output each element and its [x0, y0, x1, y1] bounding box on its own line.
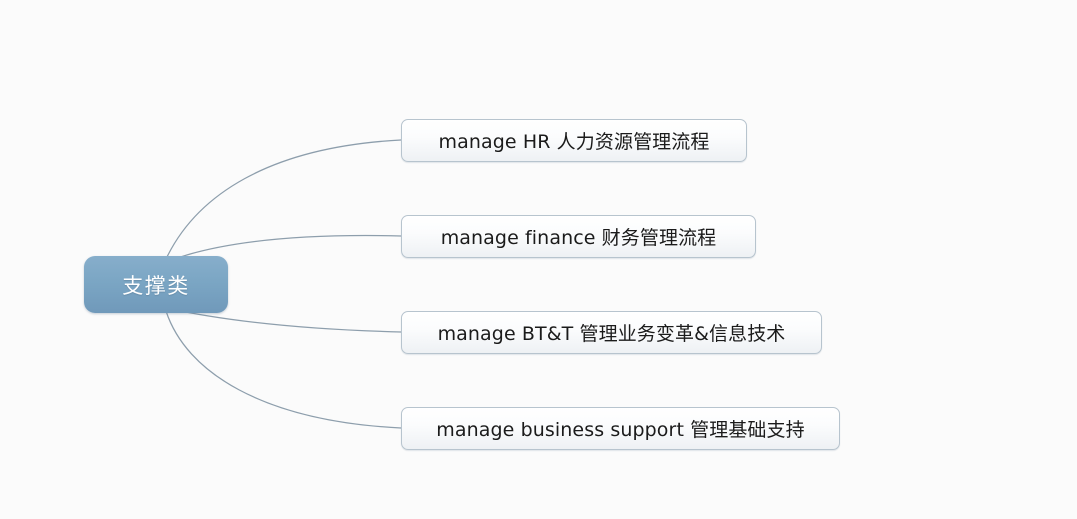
- branch-node-hr[interactable]: manage HR 人力资源管理流程: [401, 119, 747, 162]
- branch-node-business-support[interactable]: manage business support 管理基础支持: [401, 407, 840, 450]
- mindmap-canvas: 支撑类 manage HR 人力资源管理流程 manage finance 财务…: [0, 0, 1077, 519]
- branch-node-finance[interactable]: manage finance 财务管理流程: [401, 215, 756, 258]
- branch-node-label: manage finance 财务管理流程: [441, 223, 717, 250]
- branch-node-label: manage BT&T 管理业务变革&信息技术: [438, 319, 786, 346]
- root-node[interactable]: 支撑类: [84, 256, 228, 313]
- connector-to-branch-business-support: [166, 311, 401, 428]
- root-node-label: 支撑类: [122, 270, 190, 300]
- branch-node-label: manage HR 人力资源管理流程: [439, 127, 710, 154]
- branch-node-label: manage business support 管理基础支持: [436, 415, 804, 442]
- connector-to-branch-hr: [166, 140, 401, 259]
- branch-node-btt[interactable]: manage BT&T 管理业务变革&信息技术: [401, 311, 822, 354]
